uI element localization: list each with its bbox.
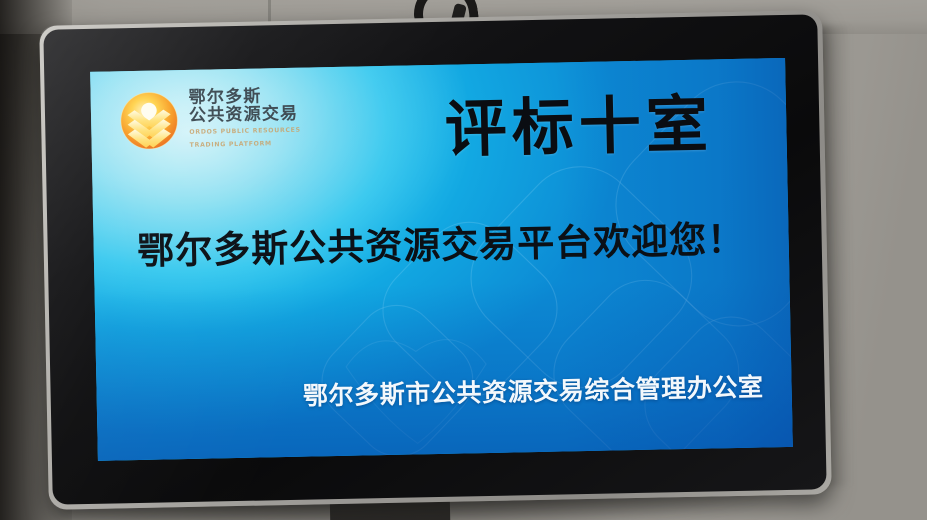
brand-lockup: 鄂尔多斯 公共资源交易 ORDOS PUBLIC RESOURCES TRADI… xyxy=(119,88,302,152)
brand-name-line2: 公共资源交易 xyxy=(189,105,301,125)
room-title: 评标十室 xyxy=(400,73,757,170)
welcome-message: 鄂尔多斯公共资源交易平台欢迎您！ xyxy=(93,208,789,276)
brand-text-block: 鄂尔多斯 公共资源交易 ORDOS PUBLIC RESOURCES TRADI… xyxy=(189,88,302,150)
brand-english-line1: ORDOS PUBLIC RESOURCES xyxy=(189,126,301,138)
photo-scene: 鄂尔多斯 公共资源交易 ORDOS PUBLIC RESOURCES TRADI… xyxy=(0,0,927,520)
brand-english-line2: TRADING PLATFORM xyxy=(190,138,302,150)
wall-display-monitor: 鄂尔多斯 公共资源交易 ORDOS PUBLIC RESOURCES TRADI… xyxy=(39,10,832,510)
ordos-public-resources-emblem-icon xyxy=(119,90,180,151)
display-screen[interactable]: 鄂尔多斯 公共资源交易 ORDOS PUBLIC RESOURCES TRADI… xyxy=(90,58,793,461)
organization-name: 鄂尔多斯市公共资源交易综合管理办公室 xyxy=(96,367,792,417)
